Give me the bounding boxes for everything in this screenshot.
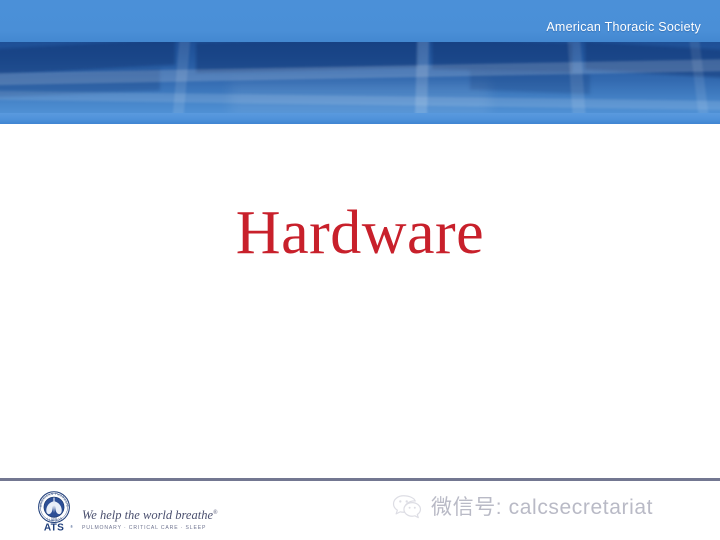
ats-tagline-text: We help the world breathe <box>82 508 213 522</box>
organization-name: American Thoracic Society <box>546 20 701 34</box>
ats-tagline: We help the world breathe® <box>82 506 220 522</box>
svg-text:ATS: ATS <box>44 523 64 534</box>
ats-subtagline: PULMONARY · CRITICAL CARE · SLEEP <box>82 524 220 533</box>
header-banner: American Thoracic Society <box>0 0 720 124</box>
slide-title: Hardware <box>0 198 720 268</box>
wechat-watermark: 微信号: calcsecretariat <box>392 490 653 522</box>
ats-seal-icon: AMERICAN THORACIC SOCIETY 1905 ATS ® <box>30 486 78 534</box>
banner-architecture-image <box>0 42 720 116</box>
slide-footer: AMERICAN THORACIC SOCIETY 1905 ATS ® <box>0 478 720 540</box>
ats-logo: AMERICAN THORACIC SOCIETY 1905 ATS ® <box>30 486 220 536</box>
banner-shape-glow <box>230 82 490 116</box>
banner-bottom-rim <box>0 113 720 124</box>
svg-text:®: ® <box>70 525 73 529</box>
wechat-icon <box>392 493 422 519</box>
ats-tagline-block: We help the world breathe® PULMONARY · C… <box>82 506 220 533</box>
registered-mark: ® <box>213 510 218 516</box>
wechat-id-label: 微信号: calcsecretariat <box>431 491 653 521</box>
svg-text:1905: 1905 <box>51 517 58 521</box>
slide-content-area: Hardware <box>0 124 720 478</box>
presentation-slide: American Thoracic Society Hardware <box>0 0 720 540</box>
footer-divider <box>0 478 720 481</box>
